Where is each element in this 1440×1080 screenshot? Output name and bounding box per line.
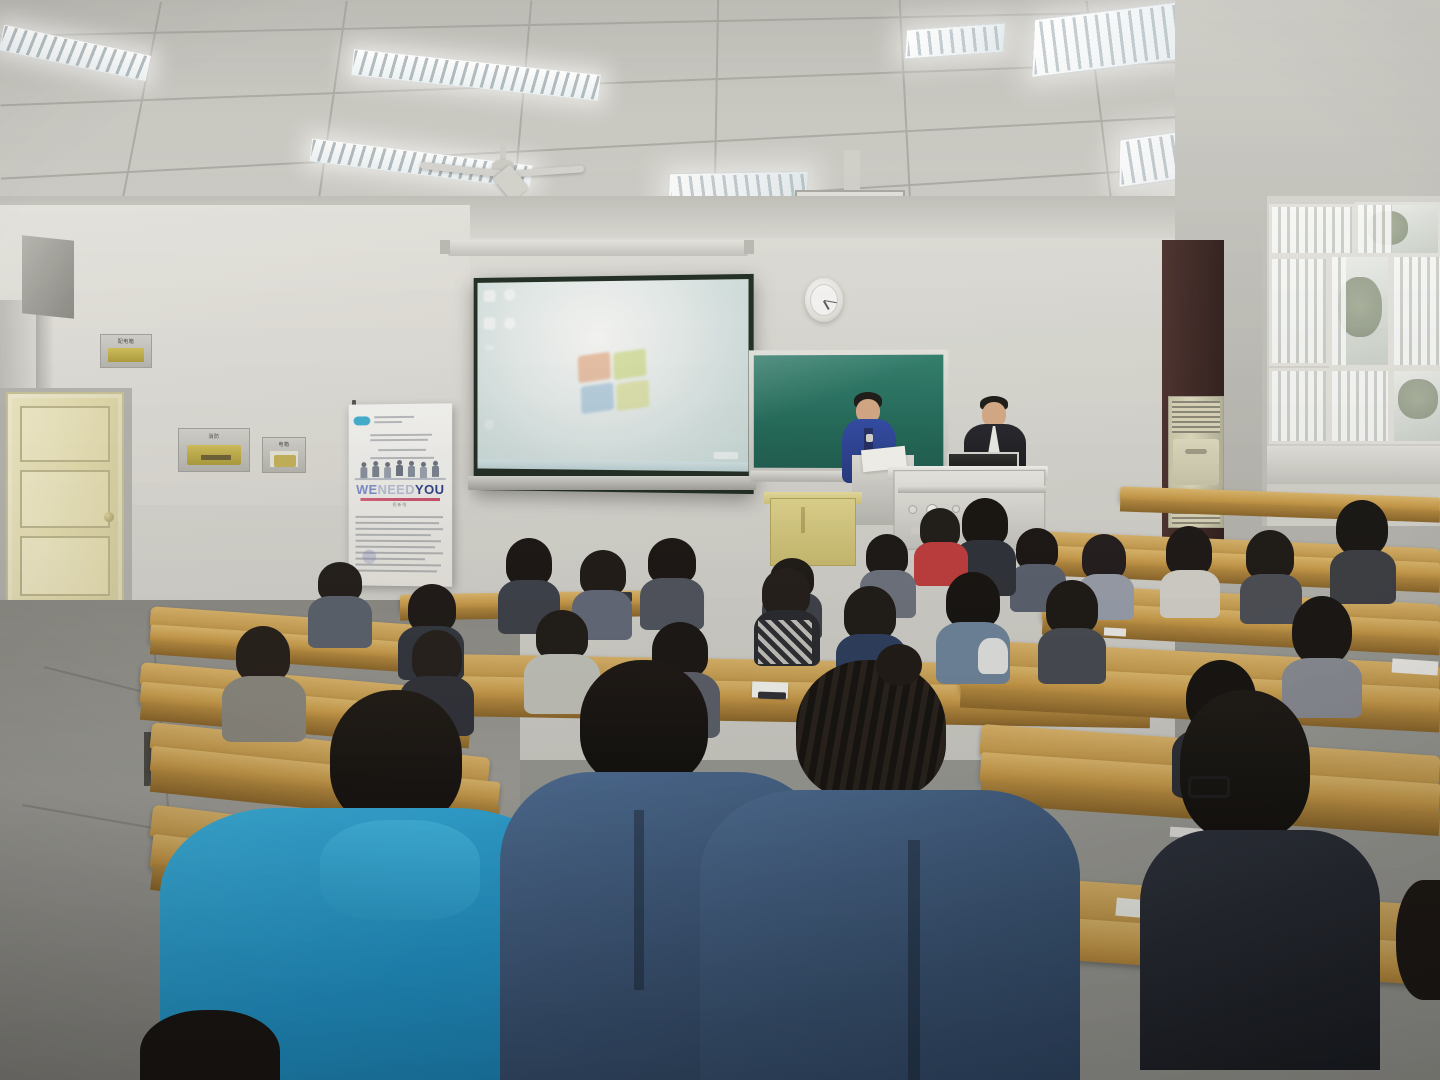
presenter-badge <box>866 434 873 442</box>
projected-desktop <box>477 279 748 472</box>
door-knob[interactable] <box>104 512 114 522</box>
electrical-panel-box: 电箱 <box>262 437 306 473</box>
eyeglasses <box>1188 776 1230 798</box>
windows-logo <box>577 345 654 420</box>
screen-bracket <box>744 240 754 254</box>
lecture-hall-photo: 配电箱 消防 电箱 <box>0 0 1440 1080</box>
projection-screen <box>474 274 754 494</box>
poster-stamp <box>362 550 376 564</box>
window-open-casement <box>1329 254 1391 368</box>
poster-subtitle: 招新啦 <box>349 502 452 508</box>
hair-bun <box>876 644 922 686</box>
poster-body-text <box>356 514 446 581</box>
paper-on-desk <box>1104 627 1126 636</box>
clock-face <box>810 284 838 316</box>
patterned-top <box>758 620 812 664</box>
hoodie-hood <box>978 638 1008 674</box>
window-wall <box>1262 196 1440 526</box>
poster-word-we: WE <box>356 482 377 497</box>
poster-word-you: YOU <box>415 482 444 497</box>
electrical-panel-box: 消防 <box>178 428 250 472</box>
screen-bottom-bar <box>468 476 756 490</box>
taskbar <box>477 460 748 472</box>
trash-bin <box>770 498 856 566</box>
window-sill <box>1267 446 1440 484</box>
poster-figure-row <box>349 403 452 404</box>
screen-roller-case <box>448 240 748 256</box>
wall-speaker <box>22 235 74 318</box>
poster-divider <box>360 498 440 501</box>
console-rail <box>898 486 1046 493</box>
poster-word-need: NEED <box>378 482 415 497</box>
jacket-seam <box>634 810 644 990</box>
poster-logo-badge <box>354 416 371 425</box>
screen-bracket <box>440 240 450 254</box>
poster-headline: WENEEDYOU <box>349 482 452 497</box>
phone-on-desk <box>758 692 786 700</box>
wall-clock <box>805 278 843 322</box>
tray-area <box>714 452 739 459</box>
hoodie-hood <box>320 820 480 920</box>
recruitment-poster: WENEEDYOU 招新啦 <box>349 403 452 586</box>
electrical-panel-box: 配电箱 <box>100 334 152 368</box>
jacket-seam <box>908 840 920 1080</box>
